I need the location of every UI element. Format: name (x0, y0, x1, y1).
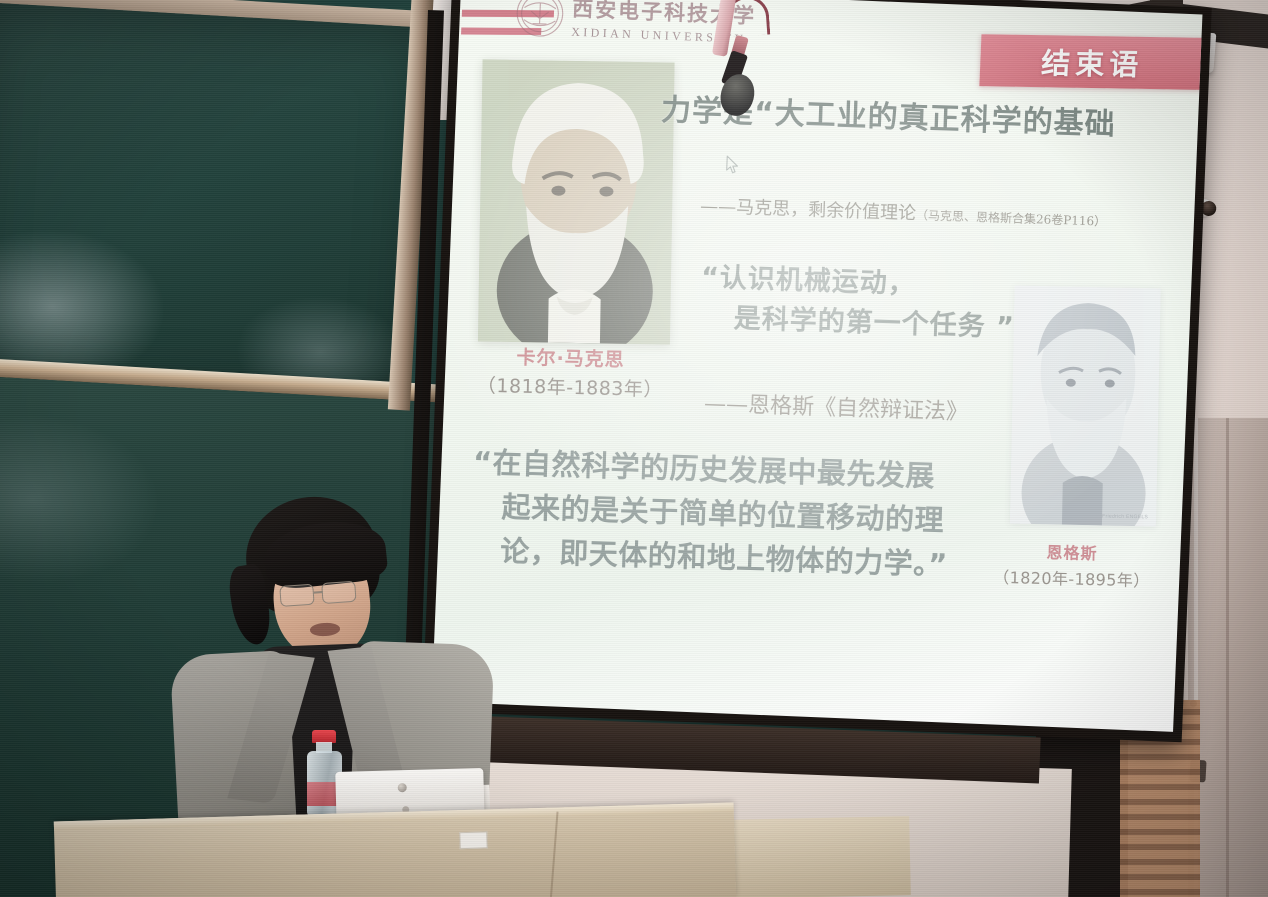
attribution-name: ——马克思，剩余价值理论 (700, 196, 917, 224)
slide-surface: 西安电子科技大学 XIDIAN UNIVERSITY 结束语 (432, 0, 1203, 732)
quote-main-attribution: ——马克思，剩余价值理论（马克思、恩格斯合集26卷P116） (700, 192, 1201, 235)
engels-caption: 恩格斯 （1820年-1895年） (981, 538, 1162, 592)
quote-engels-text: “认识机械运动， 是科学的第一个任务 ” (699, 258, 1121, 351)
lectern-sticker (459, 831, 487, 849)
lectern-right-section (724, 816, 911, 897)
mouse-pointer-icon (726, 155, 740, 175)
blackboard-panel-upper (0, 2, 429, 407)
marx-caption: 卡尔·马克思 （1818年-1883年） (465, 341, 676, 402)
engels-caption-name: 恩格斯 (982, 538, 1163, 566)
paragraph-text: “在自然科学的历史发展中最先发展 起来的是关于简单的位置移动的理 论，即天体的和… (470, 440, 1054, 590)
marx-caption-years: （1818年-1883年） (465, 370, 676, 402)
hanging-microphone (700, 0, 790, 116)
marx-caption-name: 卡尔·马克思 (465, 341, 676, 373)
engels-caption-years: （1820年-1895年） (981, 563, 1162, 591)
lecture-hall-photo: ThreeStars (0, 0, 1268, 897)
slide-text-layer: 力学是“大工业的真正科学的基础 ——马克思，剩余价值理论（马克思、恩格斯合集26… (432, 0, 1203, 732)
projection-screen[interactable]: 西安电子科技大学 XIDIAN UNIVERSITY 结束语 (422, 0, 1211, 742)
attribution-source: （马克思、恩格斯合集26卷P116） (916, 208, 1107, 228)
laptop-screw-upper (398, 783, 407, 792)
quote-engels-attribution: ——恩格斯《自然辩证法》 (704, 385, 969, 426)
quote-engels-line-2: 是科学的第一个任务 ” (699, 298, 1120, 351)
lectern-seam (549, 812, 558, 897)
door-frame[interactable] (1188, 418, 1268, 897)
quote-engels-line-1: “认识机械运动， (701, 262, 917, 300)
